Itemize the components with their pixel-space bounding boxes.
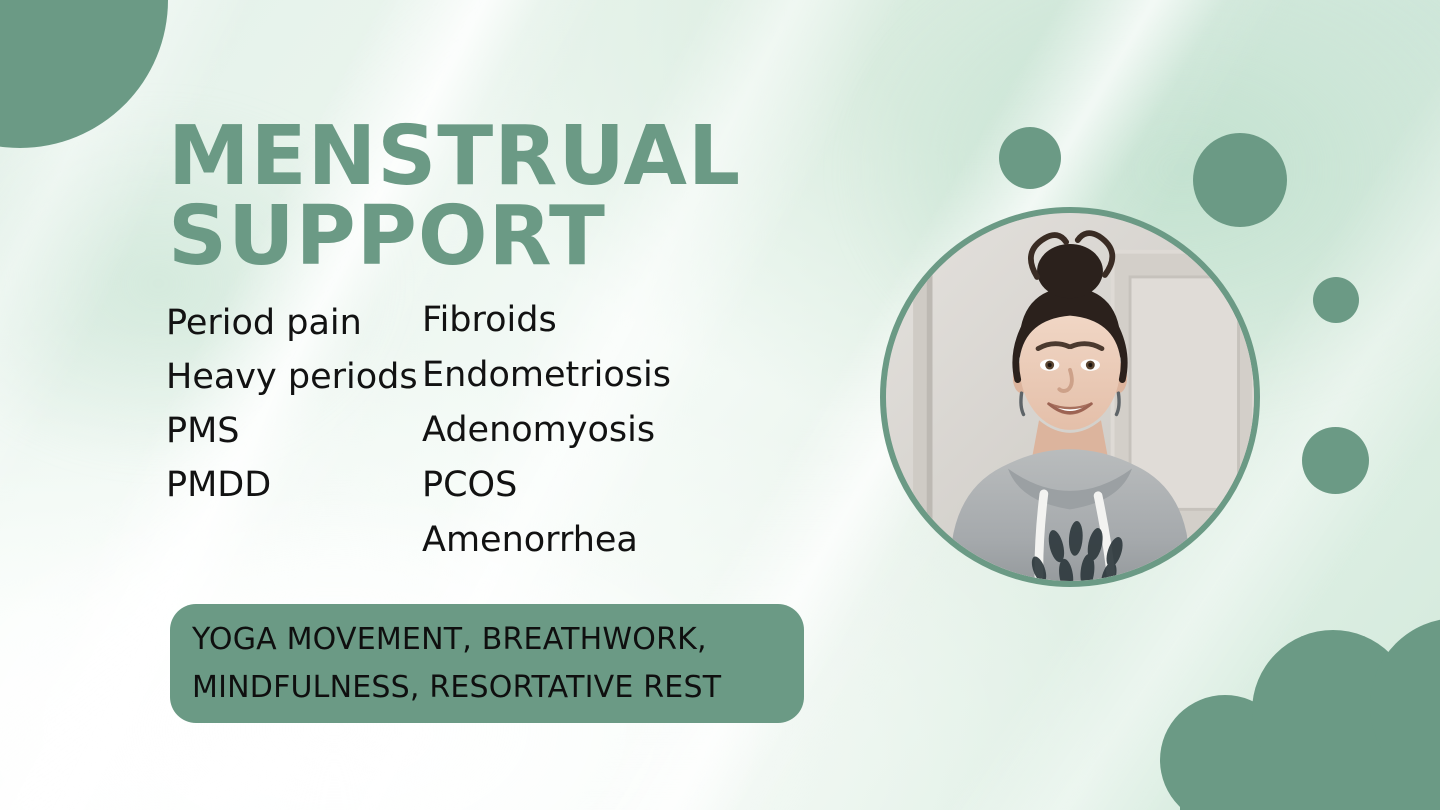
page-title: MENSTRUAL SUPPORT	[168, 117, 808, 278]
conditions-column-right: Fibroids Endometriosis Adenomyosis PCOS …	[422, 293, 671, 568]
decorative-dot-icon	[1302, 427, 1369, 494]
condition-item: Endometriosis	[422, 348, 671, 403]
modalities-banner: YOGA MOVEMENT, BREATHWORK, MINDFULNESS, …	[170, 604, 804, 723]
cloud-shape-icon	[1120, 600, 1440, 810]
banner-line-2: MINDFULNESS, RESORTATIVE REST	[192, 664, 782, 712]
portrait-illustration	[886, 213, 1254, 581]
condition-item: PCOS	[422, 458, 671, 513]
condition-item: Amenorrhea	[422, 513, 671, 568]
decorative-dot-icon	[1193, 133, 1287, 227]
avatar	[880, 207, 1260, 587]
condition-item: PMDD	[166, 458, 418, 512]
condition-item: PMS	[166, 404, 418, 458]
condition-item: Adenomyosis	[422, 403, 671, 458]
condition-item: Period pain	[166, 296, 418, 350]
condition-item: Heavy periods	[166, 350, 418, 404]
decorative-dot-icon	[999, 127, 1061, 189]
conditions-column-left: Period pain Heavy periods PMS PMDD	[166, 296, 418, 512]
cloud-base	[1180, 750, 1440, 810]
slide-canvas: MENSTRUAL SUPPORT Period pain Heavy peri…	[0, 0, 1440, 810]
banner-line-1: YOGA MOVEMENT, BREATHWORK,	[192, 616, 782, 664]
condition-item: Fibroids	[422, 293, 671, 348]
decorative-dot-icon	[1313, 277, 1359, 323]
